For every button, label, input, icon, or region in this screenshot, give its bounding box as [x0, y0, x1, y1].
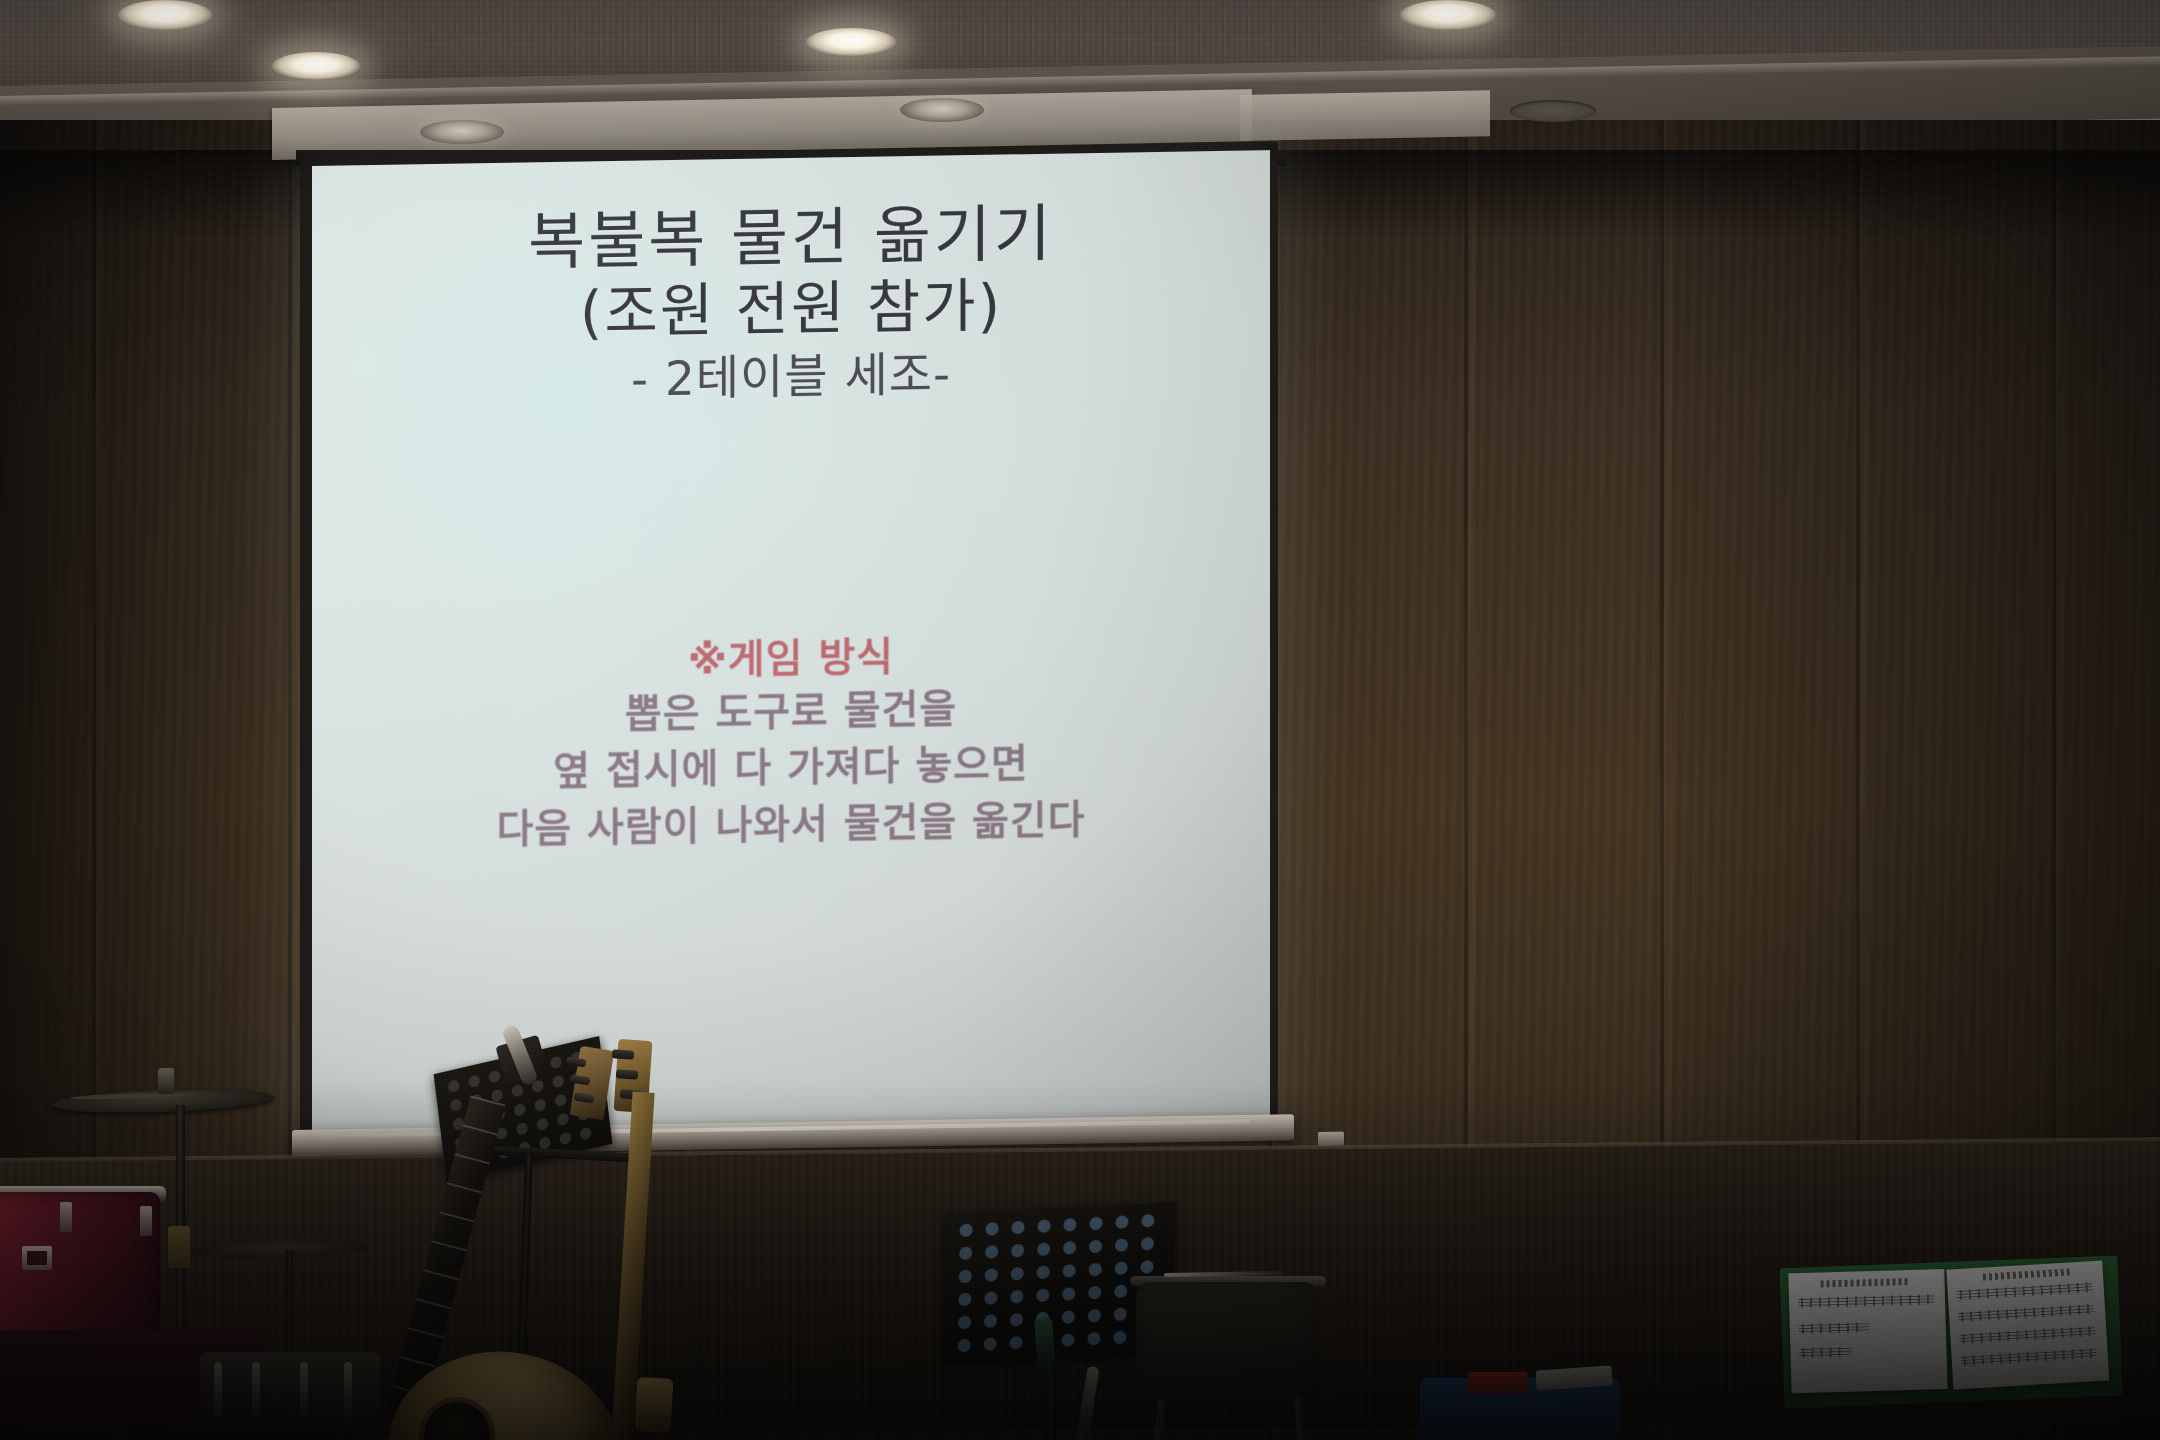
slide-body: ※게임 방식 뽑은 도구로 물건을 옆 접시에 다 가져다 놓으면 다음 사람이… [312, 618, 1270, 862]
snare-highlight [214, 1362, 222, 1420]
book-page-left [1788, 1269, 1947, 1393]
screen-valance-right [1240, 90, 1490, 141]
slide-title: 복불복 물건 옮기기 (조원 전원 참가) - 2테이블 세조- [312, 194, 1270, 414]
snare-drum [200, 1352, 380, 1440]
presentation-slide: 복불복 물건 옮기기 (조원 전원 참가) - 2테이블 세조- ※게임 방식 … [312, 150, 1270, 1140]
screen-bar-knob[interactable] [1318, 1132, 1344, 1146]
drum-lug [140, 1206, 152, 1236]
book-page-right [1946, 1261, 2109, 1390]
downlight-5-icon [420, 120, 504, 144]
downlight-2-icon [272, 52, 360, 80]
chair [1136, 1282, 1318, 1410]
downlight-6-icon [900, 98, 984, 122]
music-notes [1802, 1322, 1864, 1334]
sheet-music-book [1788, 1262, 2115, 1400]
snare-highlight [252, 1362, 260, 1420]
bass-body-edge [635, 1377, 674, 1433]
cymbal-clutch [168, 1226, 190, 1268]
photo-canvas: 복불복 물건 옮기기 (조원 전원 참가) - 2테이블 세조- ※게임 방식 … [0, 0, 2160, 1440]
downlight-7-icon [1510, 100, 1596, 122]
page-heading [1821, 1278, 1909, 1287]
drum-badge [22, 1246, 52, 1270]
music-notes [1961, 1304, 2091, 1322]
slide-title-line-2: (조원 전원 참가) [312, 268, 1270, 351]
slide-title-line-3: - 2테이블 세조- [312, 343, 1270, 413]
bass-tuning-peg [616, 1069, 639, 1080]
snare-highlight [344, 1362, 352, 1420]
downlight-4-icon [1400, 0, 1496, 30]
drum-lug [60, 1202, 72, 1232]
music-notes [1964, 1348, 2094, 1366]
microphone-center [1034, 1317, 1056, 1374]
music-notes [1962, 1326, 2092, 1344]
page-heading [1983, 1268, 2071, 1280]
downlight-3-icon [806, 28, 896, 56]
downlight-1-icon [118, 0, 212, 30]
snare-highlight [300, 1362, 308, 1420]
projection-screen[interactable]: 복불복 물건 옮기기 (조원 전원 참가) - 2테이블 세조- ※게임 방식 … [312, 150, 1270, 1140]
slide-title-line-1: 복불복 물건 옮기기 [528, 197, 1054, 279]
cymbal-bolt-icon [158, 1068, 174, 1094]
music-notes [1960, 1282, 2090, 1300]
music-notes [1802, 1347, 1846, 1358]
bass-tuning-peg [612, 1049, 635, 1060]
music-notes [1801, 1294, 1931, 1308]
bag-red-item [1468, 1372, 1528, 1394]
